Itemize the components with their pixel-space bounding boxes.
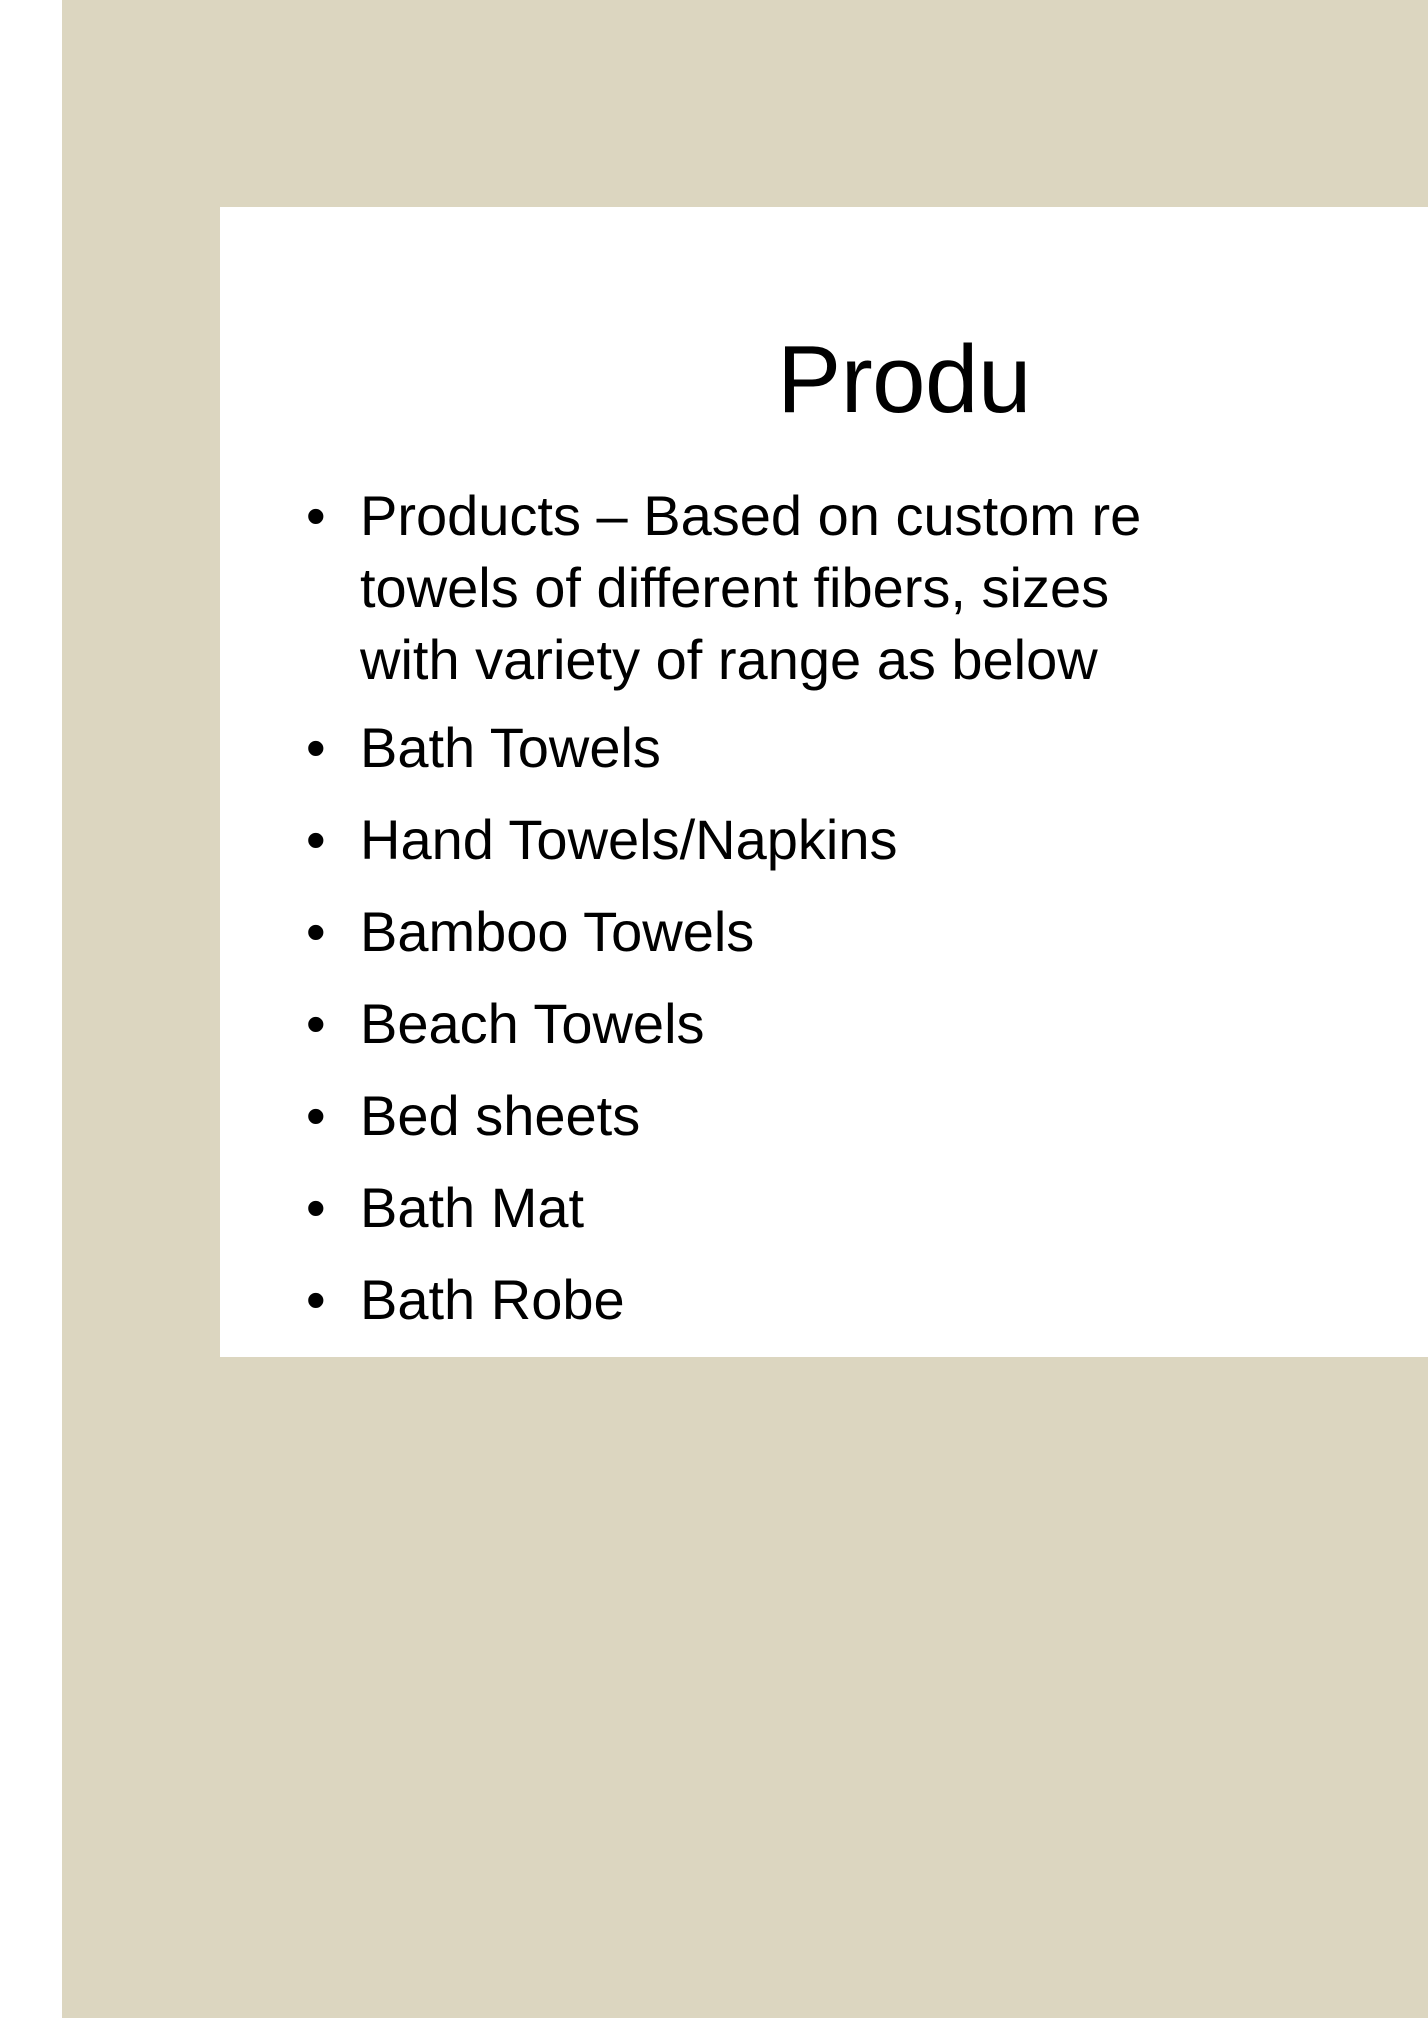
list-item-line: with variety of range as below: [360, 624, 1428, 696]
list-item[interactable]: • Products – Based on custom re towels o…: [262, 480, 1428, 696]
bullet-point-icon: •: [262, 1080, 360, 1152]
list-item[interactable]: • Bath Robe: [262, 1264, 1428, 1336]
list-item-label: Bed sheets: [360, 1080, 1428, 1152]
bullet-point-icon: •: [262, 1172, 360, 1244]
list-item[interactable]: • Bath Mat: [262, 1172, 1428, 1244]
list-item[interactable]: • Bed sheets: [262, 1080, 1428, 1152]
list-item-label: Bath Towels: [360, 712, 1428, 784]
bullet-point-icon: •: [262, 896, 360, 968]
bullet-point-icon: •: [262, 988, 360, 1060]
bullet-point-icon: •: [262, 712, 360, 784]
list-item-label: Beach Towels: [360, 988, 1428, 1060]
list-item-label: Products – Based on custom re towels of …: [360, 480, 1428, 696]
list-item-line: towels of different fibers, sizes: [360, 552, 1428, 624]
bullet-point-icon: •: [262, 1264, 360, 1336]
list-item-label: Hand Towels/Napkins: [360, 804, 1428, 876]
list-item[interactable]: • Hand Towels/Napkins: [262, 804, 1428, 876]
list-item-label: Bamboo Towels: [360, 896, 1428, 968]
list-item-line: Products – Based on custom re: [360, 480, 1428, 552]
list-item[interactable]: • Bamboo Towels: [262, 896, 1428, 968]
slide-body: • Products – Based on custom re towels o…: [262, 480, 1428, 1340]
list-item-label: Bath Robe: [360, 1264, 1428, 1336]
slide-canvas: Produ • Products – Based on custom re to…: [0, 0, 1428, 2018]
bullet-point-icon: •: [262, 804, 360, 876]
slide-title: Produ: [380, 328, 1428, 432]
list-item[interactable]: • Bath Towels: [262, 712, 1428, 784]
bullet-point-icon: •: [262, 480, 360, 552]
list-item[interactable]: • Beach Towels: [262, 988, 1428, 1060]
list-item-label: Bath Mat: [360, 1172, 1428, 1244]
